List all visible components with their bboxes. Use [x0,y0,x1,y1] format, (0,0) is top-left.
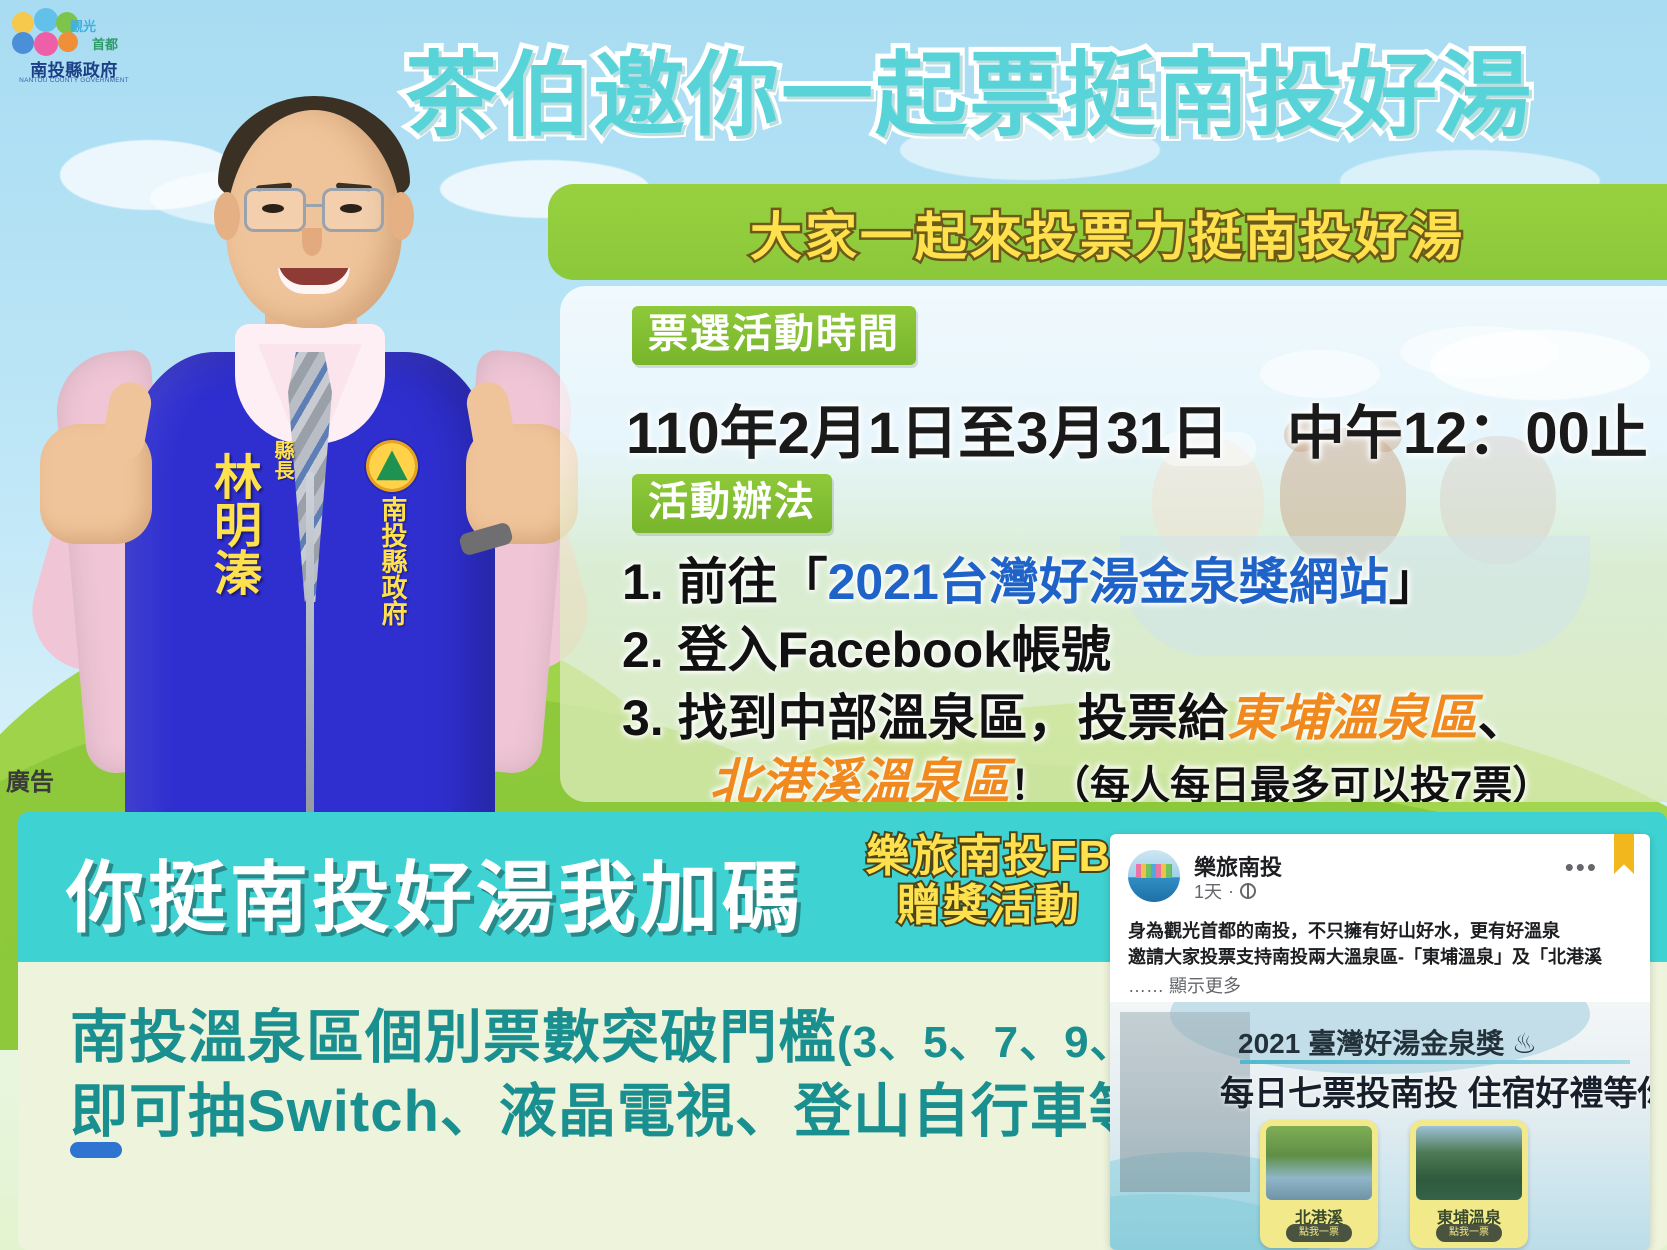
fb-show-more-link[interactable]: …… 顯示更多 [1128,972,1241,998]
nantou-county-logo: 觀光 首都 南投縣政府 NANTOU COUNTY GOVERNMENT [8,6,138,92]
hotspring-thumb-card[interactable]: 北港溪 點我一票 [1260,1120,1378,1248]
cta-button[interactable] [70,1142,122,1158]
rule-3-index: 3. [622,690,664,746]
fb-image-title: 2021 臺灣好湯金泉獎 ♨ [1238,1022,1638,1062]
info-panel-content: 票選活動時間 110年2月1日至3月31日 中午12：00止 活動辦法 1. 前… [560,286,1667,802]
fb-kicker-line2: 贈獎活動 [858,881,1120,930]
advertisement-label: 廣告 [6,762,54,797]
facebook-post-card[interactable]: 樂旅南投 1天 · ••• 身為觀光首都的南投，不只擁有好山好水，更有好溫泉 邀… [1110,834,1650,1250]
bottom-headline: 你挺南投好湯我加碼 [66,836,804,948]
hotspring-vote-button[interactable]: 點我一票 [1286,1224,1352,1242]
fb-post-time: 1天 [1194,878,1222,904]
beigangxi-hotspring-name: 北港溪溫泉區 [710,754,1010,802]
vest-org-text: 南投縣政府 [374,496,406,626]
vest-zipper [306,472,314,852]
logo-blob [12,12,34,34]
vest-name-text: 林明溱 [198,452,256,596]
vote-limit-note: ！（每人每日最多可以投7票） [1010,764,1552,802]
rule-1-pre: 前往「 [678,554,828,610]
info-panel: 票選活動時間 110年2月1日至3月31日 中午12：00止 活動辦法 1. 前… [560,286,1667,802]
poster-root: 觀光 首都 南投縣政府 NANTOU COUNTY GOVERNMENT 廣告 … [0,0,1667,1250]
golden-spring-award-site-link[interactable]: 2021台灣好湯金泉獎網站 [828,554,1389,610]
logo-blob [58,32,78,52]
rule-2-index: 2. [622,622,664,678]
globe-icon [1240,883,1256,899]
rule-2-text: 登入Facebook帳號 [678,622,1111,678]
logo-slogan-top: 觀光 [70,16,96,35]
logo-glyphs: 觀光 首都 [8,6,138,58]
county-emblem-icon [366,440,418,492]
rule-item-3: 3. 找到中部溫泉區，投票給東埔溫泉區、 [622,690,1662,747]
rule-item-1: 1. 前往「2021台灣好湯金泉獎網站」 [622,554,1662,611]
activity-rules-tag: 活動辦法 [632,474,832,533]
hotspring-thumb-photo [1416,1126,1522,1200]
magistrate-photo: 縣長 林明溱 南投縣政府 [30,52,590,862]
fb-attached-image[interactable]: 2021 臺灣好湯金泉獎 ♨ 每日七票投南投 住宿好禮等你抽 北港溪 點我一票 … [1110,1002,1650,1250]
rule-3-post: 、 [1478,690,1528,746]
logo-blob [12,32,34,54]
title-underline [1240,1060,1630,1064]
logo-slogan-bottom: 首都 [92,34,118,53]
nose [302,228,322,256]
hotspring-vote-button[interactable]: 點我一票 [1436,1224,1502,1242]
prize-line: 即可抽Switch、液晶電視、登山自行車等大獎 [70,1064,1266,1148]
rule-item-2: 2. 登入Facebook帳號 [622,622,1662,679]
bottom-section: 你挺南投好湯我加碼 樂旅南投FB 贈獎活動 南投溫泉區個別票數突破門檻(3、5、… [18,812,1667,1250]
green-headline-text: 大家一起來投票力挺南投好湯 [750,195,1465,270]
vote-period-tag: 票選活動時間 [632,306,916,365]
rule-item-3-continued: 北港溪溫泉區！（每人每日最多可以投7票） [710,754,1667,802]
hotspring-thumb-card[interactable]: 東埔溫泉 點我一票 [1410,1120,1528,1248]
fb-image-subtitle: 每日七票投南投 住宿好禮等你抽 [1220,1066,1650,1115]
logo-blob [34,32,58,56]
fb-post-meta: 1天 · [1194,878,1256,904]
fb-post-text-line1: 身為觀光首都的南投，不只擁有好山好水，更有好溫泉 [1128,918,1634,944]
page-title: 茶伯邀你一起票挺南投好湯 [405,38,1665,154]
fb-post-text-line2: 邀請大家投票支持南投兩大溫泉區-「東埔溫泉」及「北港溪 [1128,944,1634,970]
fb-page-avatar[interactable] [1128,850,1180,902]
green-headline-bar: 大家一起來投票力挺南投好湯 [548,184,1667,280]
fb-giveaway-kicker: 樂旅南投FB 贈獎活動 [858,832,1120,931]
eyeglass-bridge [306,204,324,207]
fb-post-header: 樂旅南投 1天 · ••• 身為觀光首都的南投，不只擁有好山好水，更有好溫泉 邀… [1110,834,1650,984]
hotspring-thumb-photo [1266,1126,1372,1200]
logo-blob [34,8,58,32]
fb-kicker-line1: 樂旅南投FB [858,832,1120,881]
bookmark-icon[interactable] [1614,834,1634,874]
threshold-main-text: 南投溫泉區個別票數突破門檻 [70,1005,837,1070]
vote-period-value: 110年2月1日至3月31日 中午12：00止 [626,386,1646,470]
logo-english-name: NANTOU COUNTY GOVERNMENT [12,77,136,84]
vest-title-text: 縣長 [258,440,292,480]
more-options-icon[interactable]: ••• [1565,852,1598,883]
dongpu-hotspring-name: 東埔溫泉區 [1228,690,1478,746]
rule-3-pre: 找到中部溫泉區，投票給 [678,690,1228,746]
ear-left [214,192,240,240]
fb-meta-separator: · [1228,881,1234,902]
ear-right [388,192,414,240]
rule-1-post: 」 [1389,554,1439,610]
eye-right [340,204,362,213]
threshold-line: 南投溫泉區個別票數突破門檻(3、5、7、9、10萬票) [70,990,1291,1074]
eye-left [262,204,284,213]
rule-1-index: 1. [622,554,664,610]
